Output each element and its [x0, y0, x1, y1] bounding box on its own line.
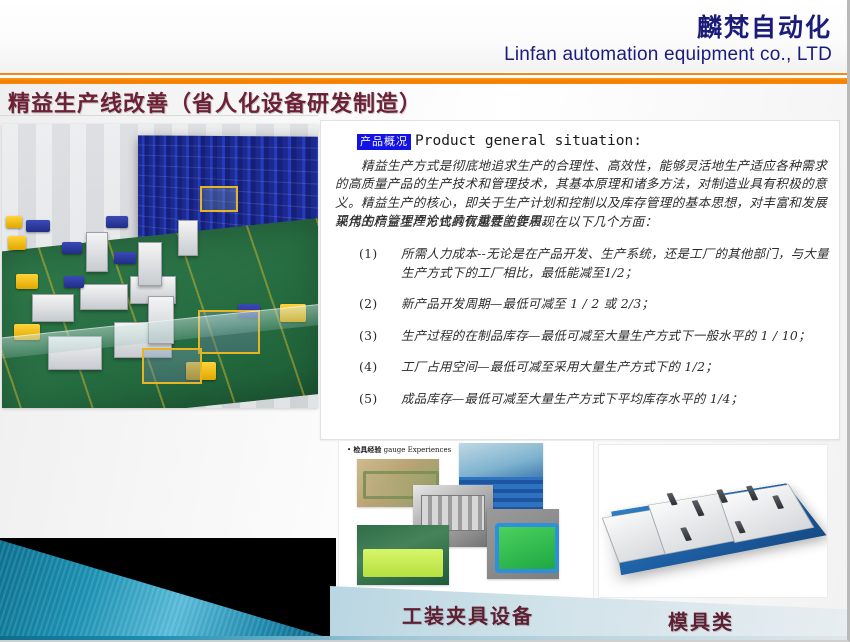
photo-agv-cart [6, 216, 22, 228]
photo-robot-arm [64, 276, 84, 288]
photo-agv-cart [16, 274, 38, 289]
photo-machine [80, 284, 128, 310]
list-item-text: 工厂占用空间—最低可减至采用大量生产方式下的 1/2； [401, 358, 831, 377]
company-name-en: Linfan automation equipment co., LTD [504, 44, 832, 66]
gauge-experiences-caption: • 检具经验 gauge Experiences [347, 445, 451, 455]
benefits-list: (1) 所需人力成本--无论是在产品开发、生产系统，还是工厂的其他部门，与大量生… [335, 245, 831, 421]
product-situation-panel: 产品概况 Product general situation: 精益生产方式是彻… [320, 120, 840, 440]
header-rule-thick [0, 78, 850, 84]
list-item-number: (1) [335, 245, 401, 282]
list-item: (5) 成品库存—最低可减至大量生产方式下平均库存水平的 1/4； [335, 390, 831, 409]
list-item-number: (4) [335, 358, 401, 377]
slide-header: 麟梵自动化 Linfan automation equipment co., L… [0, 0, 850, 72]
fixtures-photo-collage: • 检具经验 gauge Experiences [338, 440, 594, 600]
photo-machine [138, 242, 162, 286]
bullet-icon: • [347, 446, 351, 454]
list-item-number: (3) [335, 327, 401, 346]
section-tag-cn: 产品概况 [357, 134, 411, 150]
photo-safety-cage [142, 348, 202, 384]
list-item-text: 新产品开发周期—最低可减至 1 / 2 或 2/3； [401, 295, 831, 314]
list-item: (1) 所需人力成本--无论是在产品开发、生产系统，还是工厂的其他部门，与大量生… [335, 245, 831, 282]
list-item-text: 所需人力成本--无论是在产品开发、生产系统，还是工厂的其他部门，与大量生产方式下… [401, 245, 831, 282]
factory-line-photo [2, 124, 318, 408]
caption-fixtures: 工装夹具设备 [402, 600, 534, 629]
photo-robot-arm [62, 242, 82, 254]
collage-photo-cad-model [487, 509, 559, 579]
list-item-number: (5) [335, 390, 401, 409]
photo-robot-arm [26, 220, 50, 232]
title-underline [0, 115, 318, 116]
bottom-baseline [0, 636, 850, 642]
photo-machine [32, 294, 74, 322]
collage-photo-green-fixture [357, 525, 449, 585]
gauge-caption-en: gauge Experiences [384, 446, 452, 454]
list-item: (2) 新产品开发周期—最低可减至 1 / 2 或 2/3； [335, 295, 831, 314]
mold-photo [598, 444, 828, 598]
section-tag-en: Product general situation: [415, 133, 642, 149]
list-item-text: 成品库存—最低可减至大量生产方式下平均库存水平的 1/4； [401, 390, 831, 409]
photo-safety-cage [200, 186, 238, 212]
list-item-number: (2) [335, 295, 401, 314]
list-item: (3) 生产过程的在制品库存—最低可减至大量生产方式下一般水平的 1 / 10； [335, 327, 831, 346]
list-item-text: 生产过程的在制品库存—最低可减至大量生产方式下一般水平的 1 / 10； [401, 327, 831, 346]
photo-machine [178, 220, 198, 256]
gauge-caption-cn: 检具经验 [353, 445, 381, 454]
paragraph-2: 采用的精益生产方式的优越性主要表现在以下几个方面： [335, 213, 827, 231]
photo-robot-arm [106, 216, 128, 228]
list-item: (4) 工厂占用空间—最低可减至采用大量生产方式下的 1/2； [335, 358, 831, 377]
page-title: 精益生产线改善（省人化设备研发制造） [8, 86, 422, 118]
photo-agv-cart [8, 236, 26, 250]
photo-robot-arm [114, 252, 136, 264]
company-name-cn: 麟梵自动化 [697, 8, 832, 44]
photo-machine [86, 232, 108, 272]
caption-molds: 模具类 [668, 606, 734, 635]
slide-canvas: 麟梵自动化 Linfan automation equipment co., L… [0, 0, 850, 642]
